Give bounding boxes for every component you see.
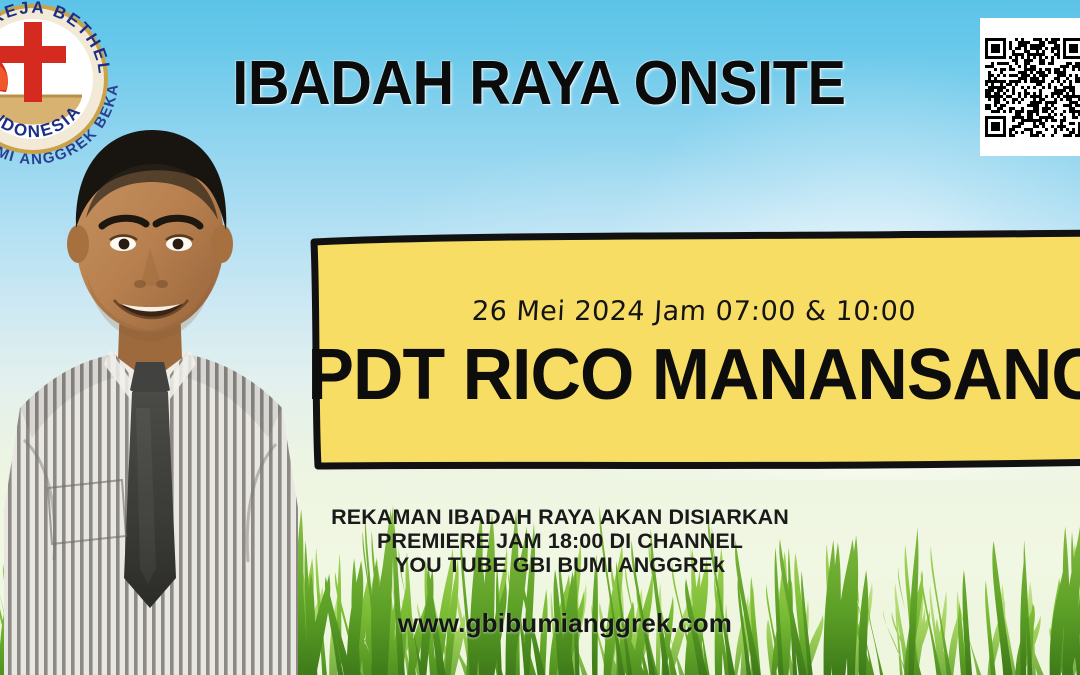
- pastor-portrait: [0, 108, 300, 675]
- speaker-name: PDT RICO MANANSANG: [307, 339, 1080, 411]
- broadcast-line-2: PREMIERE JAM 18:00 DI CHANNEL: [20, 529, 1080, 553]
- poster-canvas: BUMI ANGGREK BEKASI GEREJA BETHEL INDONE…: [0, 0, 1080, 675]
- qr-code[interactable]: [980, 18, 1080, 156]
- website-url[interactable]: www.gbibumianggrek.com: [25, 608, 1080, 639]
- speaker-card: 26 Mei 2024 Jam 07:00 & 10:00 PDT RICO M…: [308, 230, 1080, 470]
- broadcast-line-1: REKAMAN IBADAH RAYA AKAN DISIARKAN: [20, 505, 1080, 529]
- page-title: IBADAH RAYA ONSITE: [232, 48, 846, 119]
- broadcast-line-3: YOU TUBE GBI BUMI ANGGREk: [20, 553, 1080, 577]
- broadcast-note: REKAMAN IBADAH RAYA AKAN DISIARKAN PREMI…: [20, 505, 1080, 577]
- service-datetime: 26 Mei 2024 Jam 07:00 & 10:00: [471, 296, 917, 327]
- gbi-bumi-anggrek-logo: BUMI ANGGREK BEKASI GEREJA BETHEL INDONE…: [0, 0, 128, 174]
